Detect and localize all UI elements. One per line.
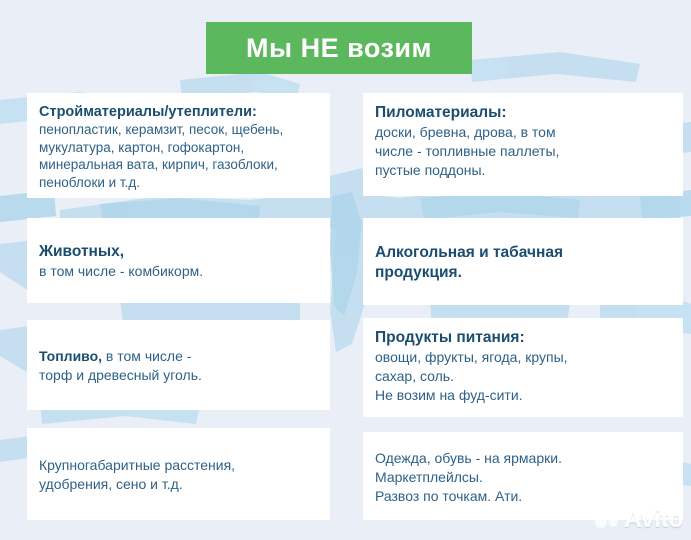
card-body: Одежда, обувь - на ярмарки. Маркетплейлс… <box>375 442 671 512</box>
card-title-rest: в том числе - <box>102 348 191 364</box>
card-line: Развоз по точкам. Ати. <box>375 488 522 504</box>
card-lumber: Пиломатериалы: доски, бревна, дрова, в т… <box>363 93 683 196</box>
card-text: Крупногабаритные расстения, удобрения, с… <box>39 456 318 494</box>
card-fuel: Топливо, в том числе - торф и древесный … <box>27 320 330 410</box>
card-title: Стройматериалы/утеплители: <box>39 103 318 121</box>
card-alcohol-tobacco: Алкогольная и табачная продукция. <box>363 218 683 305</box>
card-text: Животных, в том числе - комбикорм. <box>39 242 318 281</box>
card-line: удобрения, сено и т.д. <box>39 476 183 492</box>
card-line: мукулатура, картон, гофокартон, <box>39 140 244 155</box>
card-line: Крупногабаритные расстения, <box>39 457 235 473</box>
card-food-products: Продукты питания: овощи, фрукты, ягода, … <box>363 318 683 417</box>
card-line: пеноблоки и т.д. <box>39 175 140 190</box>
card-oversized-goods: Крупногабаритные расстения, удобрения, с… <box>27 428 330 520</box>
headline-banner: Мы НЕ возим <box>206 22 472 74</box>
card-line: Одежда, обувь - на ярмарки. <box>375 450 562 466</box>
card-title: Топливо, <box>39 348 102 364</box>
card-title-second-line: продукция. <box>375 263 671 283</box>
card-text: Алкогольная и табачная продукция. <box>375 243 671 283</box>
card-animals: Животных, в том числе - комбикорм. <box>27 218 330 303</box>
card-line: Не возим на фуд-сити. <box>375 387 523 403</box>
card-body: Продукты питания: овощи, фрукты, ягода, … <box>375 328 671 405</box>
card-body: Животных, в том числе - комбикорм. <box>39 228 318 295</box>
card-line: сахар, соль. <box>375 368 454 384</box>
card-text: Топливо, в том числе - торф и древесный … <box>39 347 318 385</box>
card-title: Продукты питания: <box>375 328 671 348</box>
card-body: Топливо, в том числе - торф и древесный … <box>39 330 318 402</box>
card-line: пустые поддоны. <box>375 162 485 178</box>
card-body: Пиломатериалы: доски, бревна, дрова, в т… <box>375 103 671 180</box>
card-building-materials: Стройматериалы/утеплители: пенопластик, … <box>27 93 330 198</box>
card-body: Алкогольная и табачная продукция. <box>375 228 671 297</box>
card-text: Одежда, обувь - на ярмарки. Маркетплейлс… <box>375 449 671 506</box>
headline-text: Мы НЕ возим <box>246 35 432 62</box>
card-line: пенопластик, керамзит, песок, щебень, <box>39 122 283 137</box>
card-line: торф и древесный уголь. <box>39 367 202 383</box>
card-line: Маркетплейлсы. <box>375 469 483 485</box>
card-title: Алкогольная и табачная <box>375 243 671 263</box>
card-line: доски, бревна, дрова, в том <box>375 124 556 140</box>
card-line: овощи, фрукты, ягода, крупы, <box>375 349 568 365</box>
card-title: Пиломатериалы: <box>375 103 671 123</box>
poster-canvas: Мы НЕ возим Стройматериалы/утеплители: п… <box>0 0 691 540</box>
card-line: числе - топливные паллеты, <box>375 143 559 159</box>
card-title: Животных, <box>39 242 318 262</box>
card-line: минеральная вата, кирпич, газоблоки, <box>39 157 278 172</box>
card-line: в том числе - комбикорм. <box>39 263 203 279</box>
card-body: Крупногабаритные расстения, удобрения, с… <box>39 438 318 512</box>
card-clothing-marketplaces: Одежда, обувь - на ярмарки. Маркетплейлс… <box>363 432 683 520</box>
card-body: Стройматериалы/утеплители: пенопластик, … <box>39 103 318 191</box>
